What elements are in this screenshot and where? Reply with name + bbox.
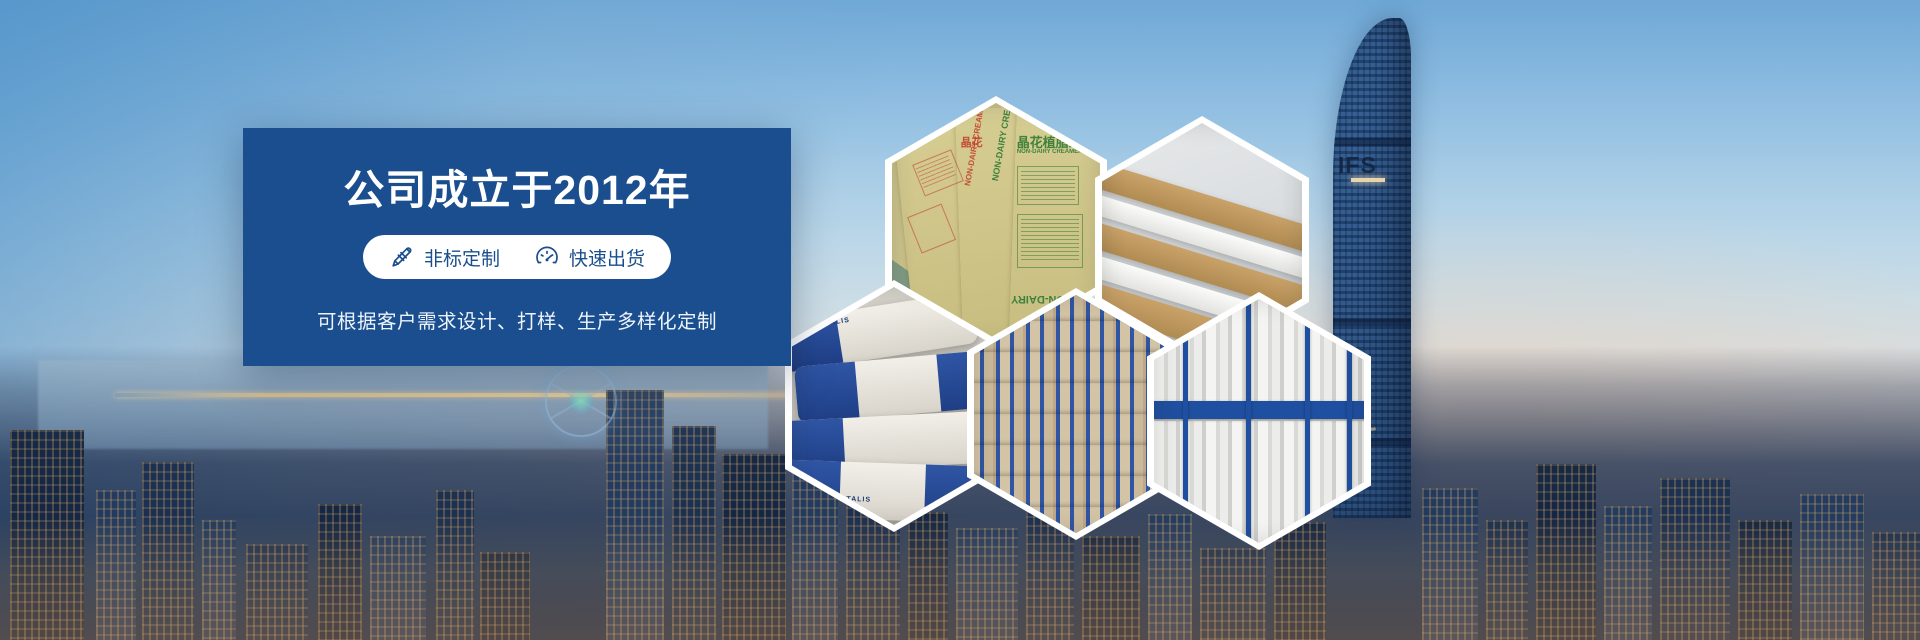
feature-custom[interactable]: 非标定制 — [389, 244, 500, 271]
page-subtitle: 可根据客户需求设计、打样、生产多样化定制 — [317, 305, 717, 334]
finished-sacks-photo: LACTALIS LACTALIS — [792, 287, 996, 525]
feature-fast-shipping[interactable]: 快速出货 — [534, 244, 645, 271]
feature-pill: 非标定制 — [363, 235, 671, 279]
design-pen-icon — [389, 244, 415, 270]
ferris-wheel-glow — [568, 388, 594, 414]
feature-fast-shipping-label: 快速出货 — [569, 244, 645, 271]
feature-custom-label: 非标定制 — [424, 244, 500, 271]
hero-text-panel: 公司成立于2012年 非标定制 — [243, 128, 791, 366]
hero-banner: IFS 晶花植脂末 NON-DAIRY CREAMER 晶花 NON-DAIRY — [0, 0, 1920, 640]
warehouse-racking-photo — [1154, 299, 1364, 543]
street-light-glow — [0, 516, 1920, 640]
page-title: 公司成立于2012年 — [343, 170, 690, 211]
product-hex-gallery: 晶花植脂末 NON-DAIRY CREAMER 晶花 NON-DAIRY 晶花 … — [795, 96, 1495, 436]
speedometer-icon — [534, 244, 560, 270]
